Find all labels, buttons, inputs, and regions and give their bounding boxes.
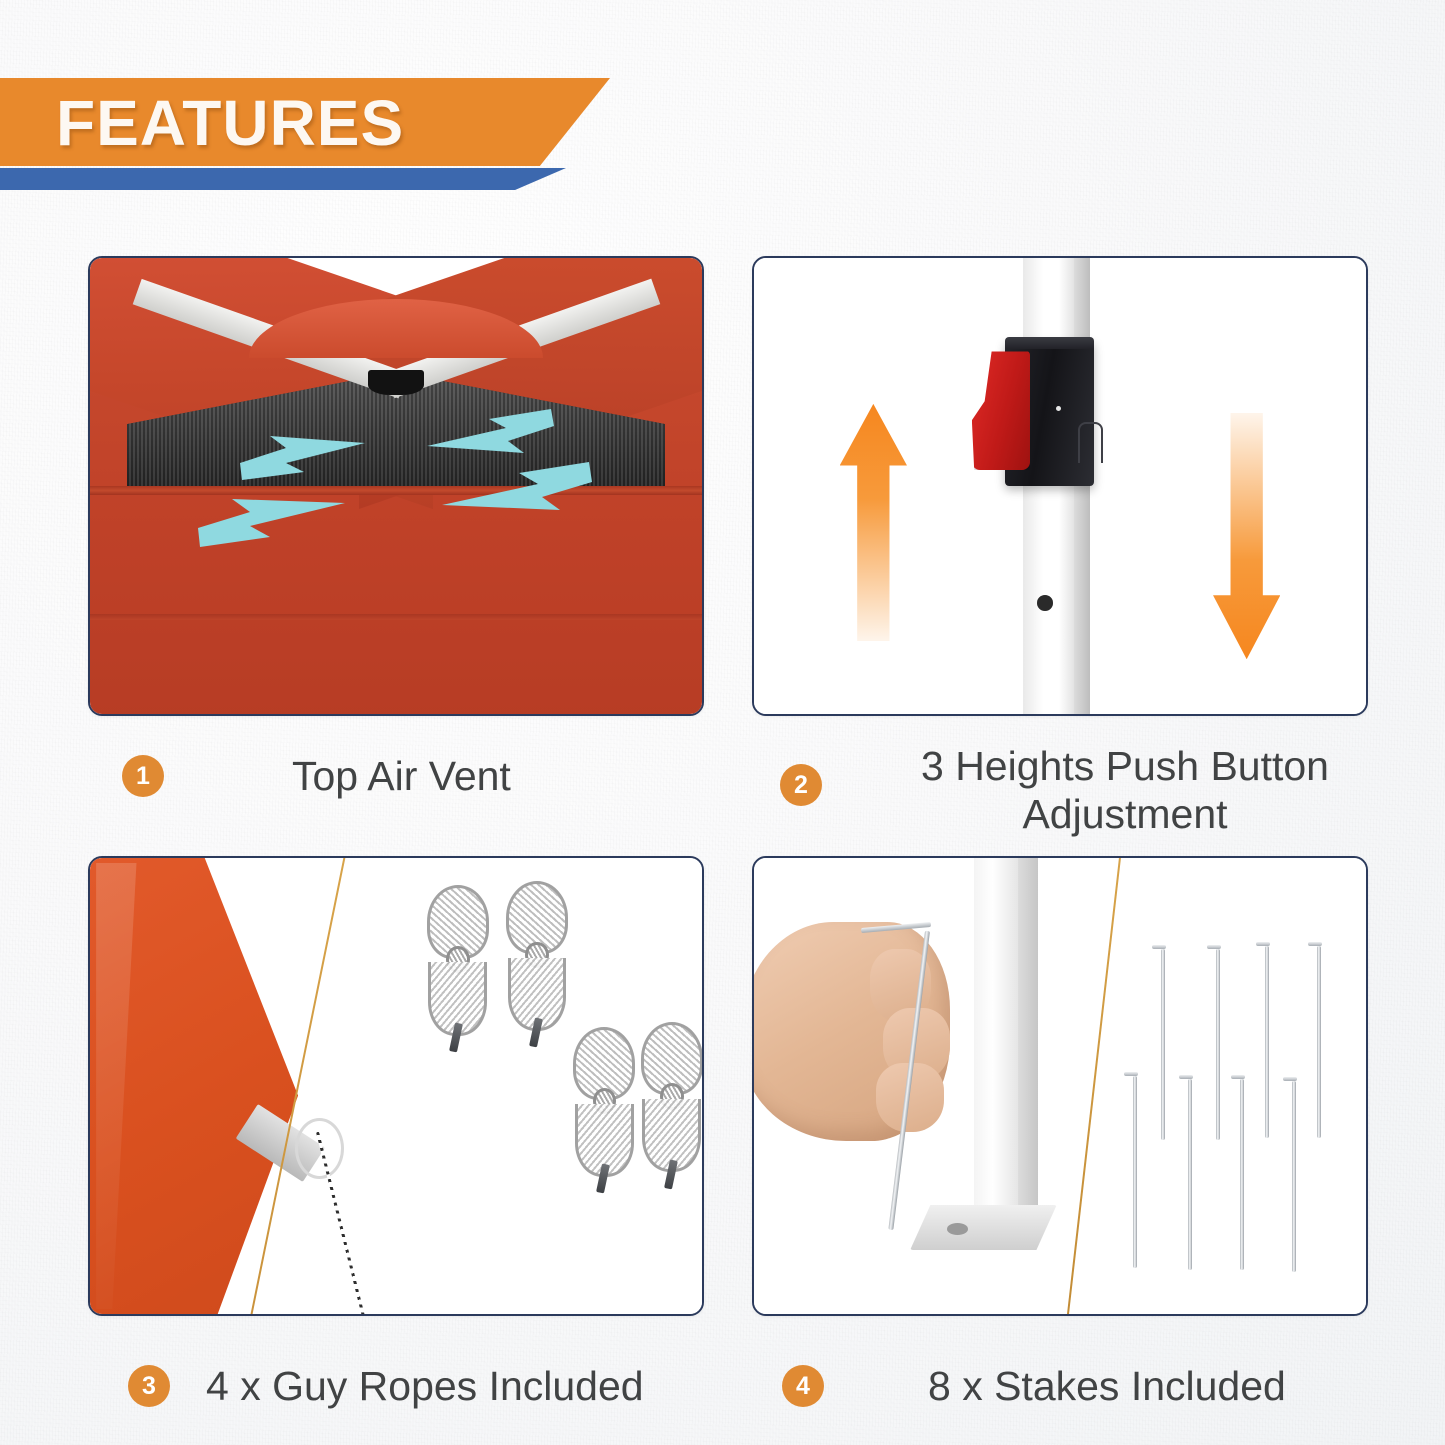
stake-hook bbox=[1207, 945, 1221, 949]
top-air-vent-photo bbox=[90, 258, 702, 714]
caption-text-2-line1: 3 Heights Push Button bbox=[921, 743, 1329, 789]
airflow-arrows bbox=[90, 258, 702, 714]
feature-panel-top-air-vent bbox=[88, 256, 704, 716]
caption-text-2: 3 Heights Push Button Adjustment bbox=[870, 742, 1380, 839]
stake-shaft bbox=[1161, 949, 1165, 1141]
canopy-leg bbox=[974, 856, 1020, 1223]
caption-text-4: 8 x Stakes Included bbox=[928, 1362, 1286, 1410]
canopy-leg-side bbox=[1018, 856, 1038, 1223]
stake-shaft bbox=[1317, 946, 1321, 1138]
page-title: FEATURES bbox=[56, 86, 404, 160]
feature-panel-push-button bbox=[752, 256, 1368, 716]
badge-number-3: 3 bbox=[128, 1365, 170, 1407]
banner-blue-underline bbox=[0, 168, 566, 190]
coiled-guy-rope bbox=[506, 881, 562, 1041]
stake-shaft bbox=[1265, 946, 1269, 1138]
canopy-foot-plate bbox=[910, 1205, 1057, 1251]
stake-shaft bbox=[1216, 949, 1220, 1141]
coiled-guy-rope bbox=[427, 885, 483, 1045]
stake-shaft bbox=[1133, 1076, 1137, 1268]
stake-shaft bbox=[1240, 1079, 1244, 1271]
stake-hook bbox=[1179, 1075, 1193, 1079]
stake-shaft bbox=[1292, 1081, 1296, 1273]
stake-hook bbox=[1283, 1077, 1297, 1081]
coiled-guy-rope bbox=[641, 1022, 697, 1182]
stakes-photo bbox=[754, 858, 1366, 1314]
caption-text-1: Top Air Vent bbox=[292, 752, 511, 800]
canopy-pole-edge bbox=[1074, 258, 1090, 714]
stake-hook bbox=[1231, 1075, 1245, 1079]
housing-slot bbox=[1078, 422, 1103, 463]
push-button-adjustment-photo bbox=[754, 258, 1366, 714]
feature-panel-stakes bbox=[752, 856, 1368, 1316]
stake-hook bbox=[1152, 945, 1166, 949]
caption-3: 3 4 x Guy Ropes Included bbox=[128, 1362, 728, 1410]
stake-shaft bbox=[1188, 1079, 1192, 1271]
canopy-pole bbox=[1023, 258, 1081, 714]
caption-2: 2 3 Heights Push Button Adjustment bbox=[780, 742, 1380, 839]
caption-text-3: 4 x Guy Ropes Included bbox=[206, 1362, 644, 1410]
foot-plate-hole bbox=[947, 1223, 968, 1235]
caption-1: 1 Top Air Vent bbox=[122, 752, 712, 800]
coiled-guy-rope bbox=[573, 1027, 629, 1187]
guy-ropes-photo bbox=[90, 858, 702, 1314]
badge-number-4: 4 bbox=[782, 1365, 824, 1407]
caption-text-2-line2: Adjustment bbox=[1022, 791, 1227, 837]
slider-housing-top bbox=[1005, 337, 1094, 349]
badge-number-2: 2 bbox=[780, 764, 822, 806]
pole-adjustment-hole bbox=[1037, 595, 1053, 611]
feature-panel-guy-ropes bbox=[88, 856, 704, 1316]
caption-4: 4 8 x Stakes Included bbox=[782, 1362, 1382, 1410]
badge-number-1: 1 bbox=[122, 755, 164, 797]
